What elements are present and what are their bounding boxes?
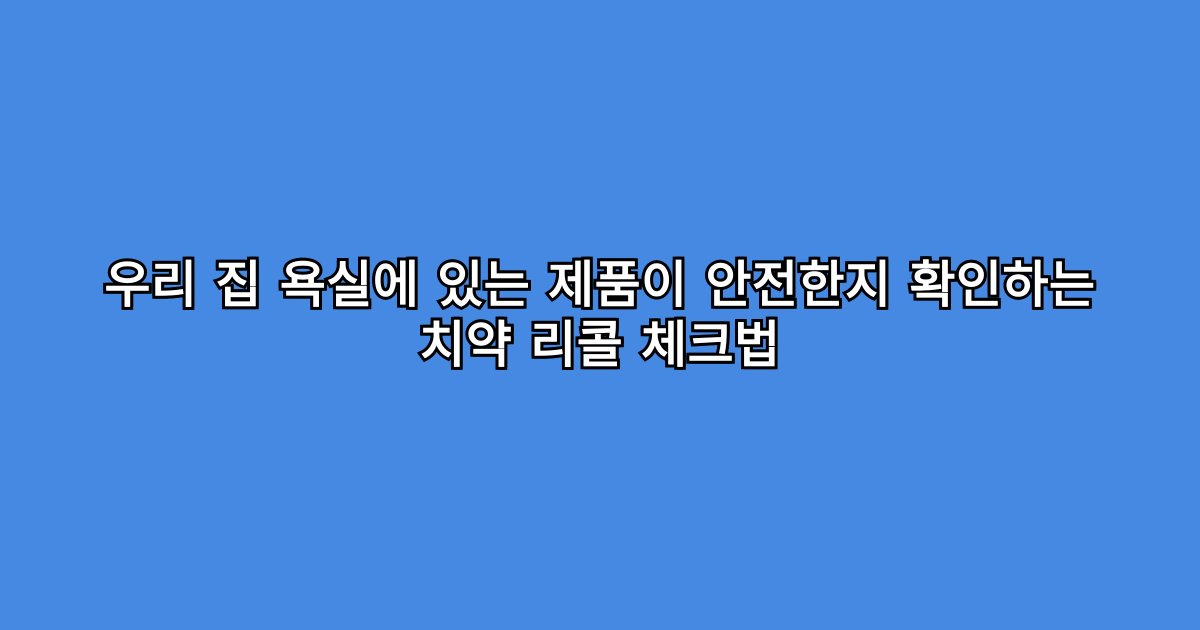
- thumbnail-card: 우리 집 욕실에 있는 제품이 안전한지 확인하는 치약 리콜 체크법: [0, 0, 1200, 630]
- page-title-line-2: 치약 리콜 체크법: [90, 315, 1110, 375]
- page-title: 우리 집 욕실에 있는 제품이 안전한지 확인하는 치약 리콜 체크법: [70, 255, 1130, 375]
- page-title-line-1: 우리 집 욕실에 있는 제품이 안전한지 확인하는: [90, 255, 1110, 315]
